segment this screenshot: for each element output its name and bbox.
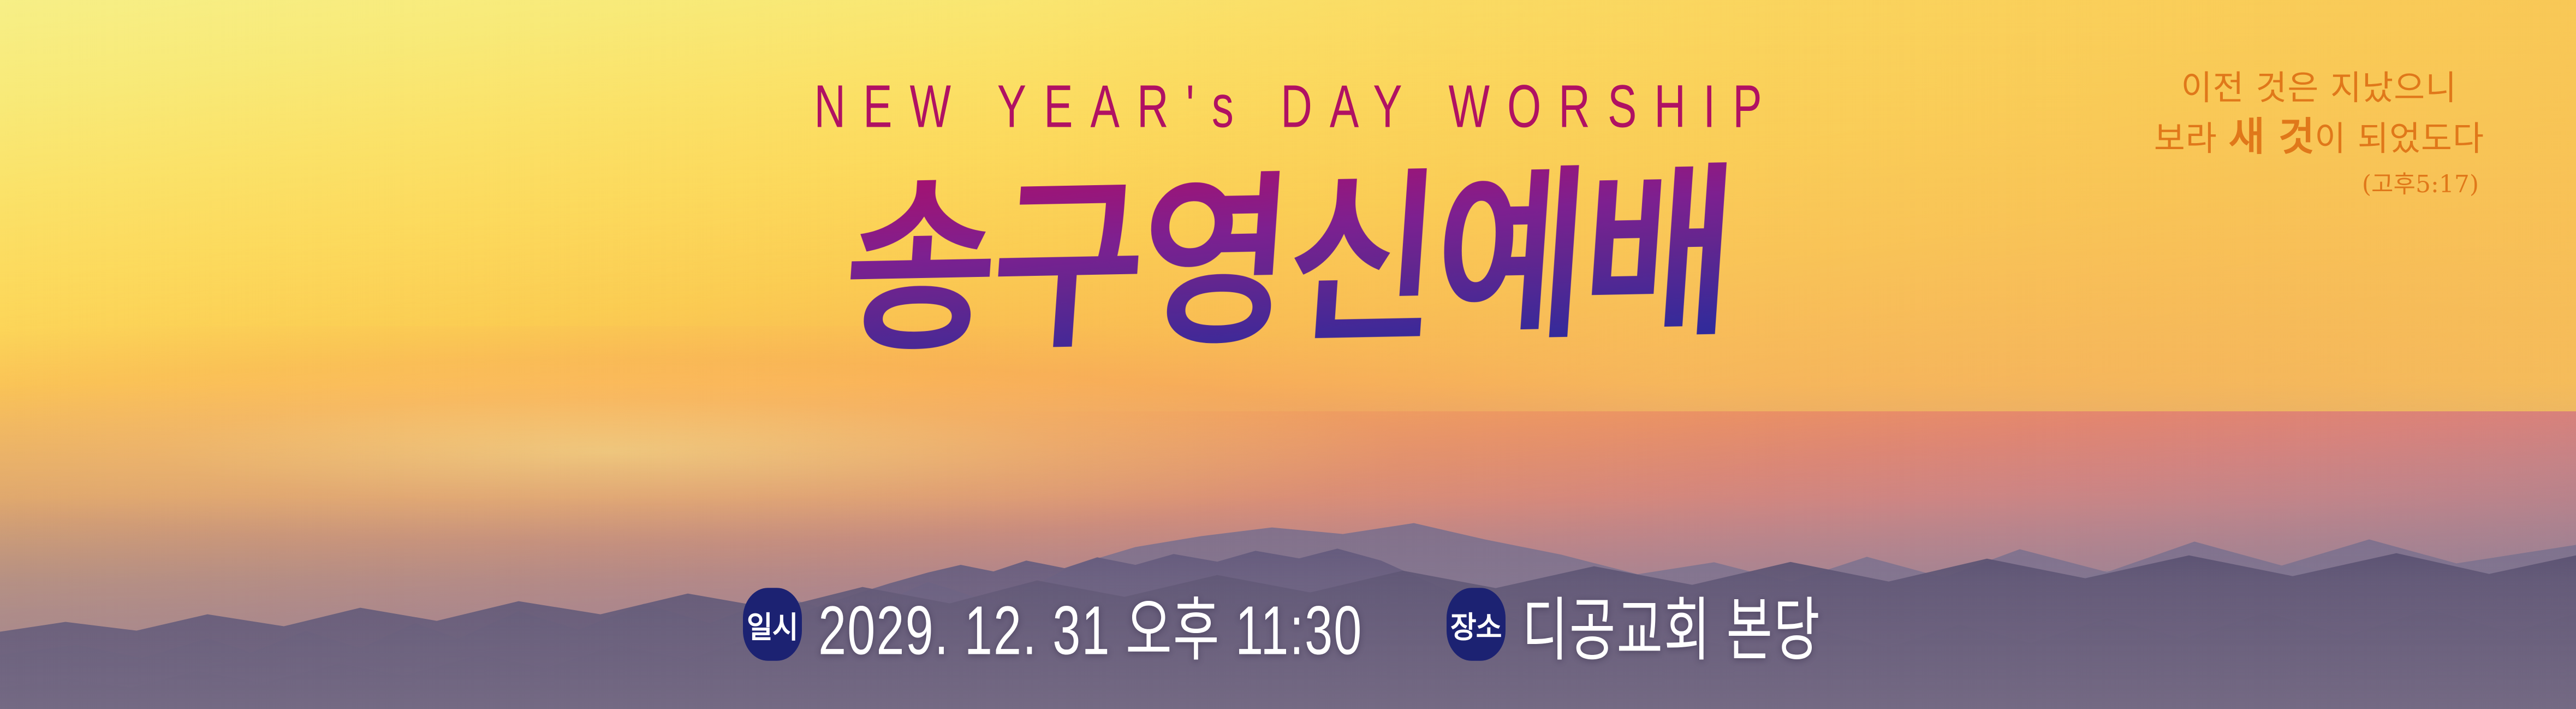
bible-verse-block: 이전 것은 지났으니 보라 새 것이 되었도다 (고후5:17) [2154, 66, 2484, 200]
verse-line-2-prefix: 보라 [2154, 119, 2229, 158]
verse-line-1: 이전 것은 지났으니 [2154, 66, 2484, 110]
verse-line-2-emphasis: 새 것 [2229, 113, 2315, 159]
date-badge: 일시 [743, 588, 802, 661]
place-value: 디공교회 본당 [1522, 574, 1821, 674]
date-value: 2029. 12. 31 오후 11:30 [818, 574, 1363, 674]
page-title: 송구영신예배 [838, 155, 1738, 370]
verse-line-2-suffix: 이 되었도다 [2315, 119, 2484, 158]
place-badge: 장소 [1447, 588, 1506, 661]
verse-reference: (고후5:17) [2154, 169, 2484, 200]
banner-content: NEW YEAR's DAY WORSHIP 송구영신예배 이전 것은 지났으니… [0, 0, 2576, 709]
event-info-bar: 일시 2029. 12. 31 오후 11:30 장소 디공교회 본당 [0, 586, 2576, 662]
verse-line-2: 보라 새 것이 되었도다 [2154, 110, 2484, 162]
new-year-worship-banner: NEW YEAR's DAY WORSHIP 송구영신예배 이전 것은 지났으니… [0, 0, 2576, 709]
